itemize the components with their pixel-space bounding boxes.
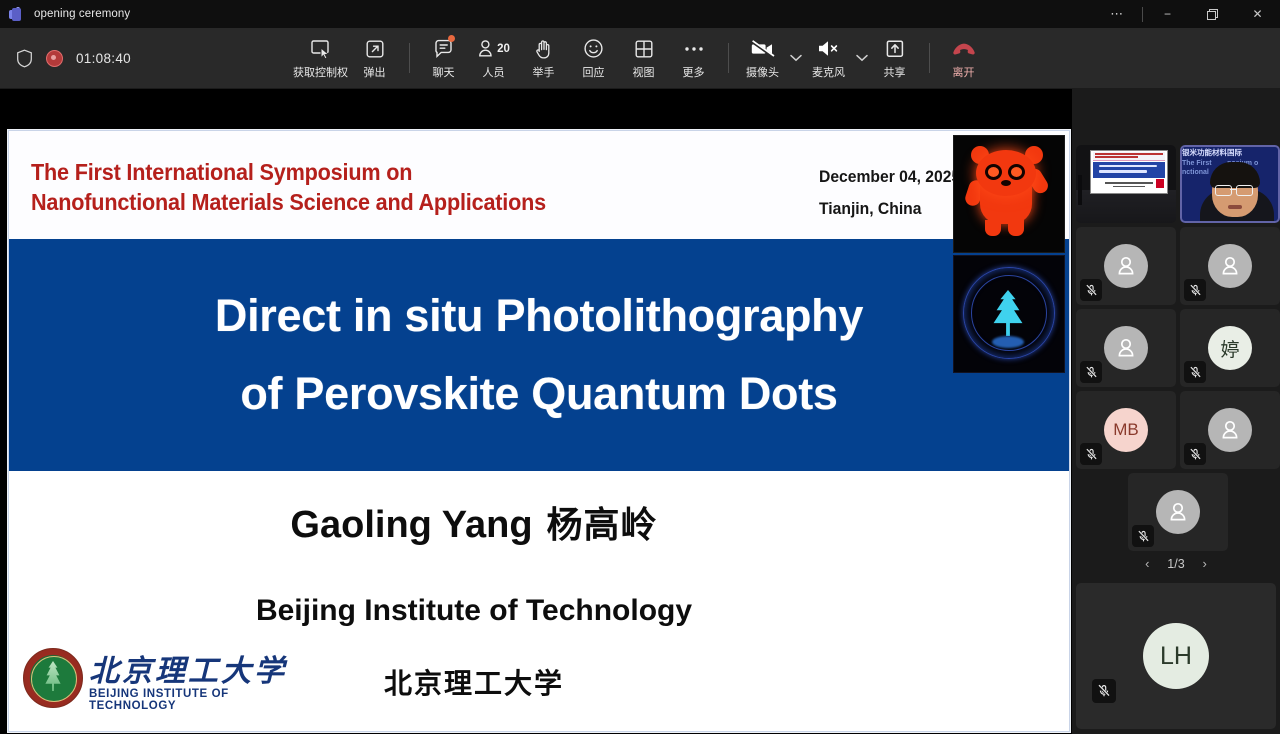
raise-hand-button[interactable]: 举手 bbox=[519, 30, 569, 86]
participant-tile-3[interactable] bbox=[1076, 227, 1176, 305]
avatar: LH bbox=[1143, 623, 1209, 689]
participant-tile-7[interactable]: MB bbox=[1076, 391, 1176, 469]
meeting-toolbar: 01:08:40 获取控制权 弹出 bbox=[0, 28, 1280, 89]
symposium-title: The First International Symposium on Nan… bbox=[31, 157, 689, 217]
people-count: 20 bbox=[497, 43, 510, 55]
slide-location: Tianjin, China bbox=[819, 193, 960, 225]
generic-person-icon bbox=[1208, 244, 1252, 288]
avatar: MB bbox=[1104, 408, 1148, 452]
more-options-button[interactable]: ⋯ bbox=[1095, 0, 1140, 28]
reactions-icon bbox=[583, 37, 604, 61]
window-controls: ⋯ − ✕ bbox=[1095, 0, 1280, 28]
view-button[interactable]: 视图 bbox=[619, 30, 669, 86]
participant-tile-speaker[interactable]: 银米功能材料国际 The First posium onctional and … bbox=[1180, 145, 1280, 223]
toolbar-divider-3 bbox=[929, 43, 930, 73]
people-label: 人员 bbox=[483, 64, 505, 80]
share-button[interactable]: 共享 bbox=[870, 30, 920, 86]
camera-label: 摄像头 bbox=[746, 64, 779, 80]
slide-meta: December 04, 2025 Tianjin, China bbox=[819, 161, 960, 225]
symposium-title-line1: The First International Symposium on bbox=[31, 157, 689, 187]
raise-hand-icon bbox=[534, 37, 553, 61]
view-grid-icon bbox=[634, 37, 654, 61]
microphone-button[interactable]: 麦克风 bbox=[804, 30, 854, 86]
pop-out-icon bbox=[365, 37, 385, 61]
toolbar-divider bbox=[409, 43, 410, 73]
active-speaker-highlight bbox=[1180, 145, 1280, 223]
share-label: 共享 bbox=[884, 64, 906, 80]
bit-mascot-photo bbox=[953, 135, 1065, 253]
toolbar-divider-2 bbox=[728, 43, 729, 73]
speaker-name-en: Gaoling Yang bbox=[290, 504, 532, 546]
people-icon: 20 bbox=[477, 37, 510, 61]
take-control-icon bbox=[310, 37, 332, 61]
pager-prev-button[interactable]: ‹ bbox=[1140, 556, 1154, 571]
pop-out-label: 弹出 bbox=[364, 64, 386, 80]
slide-date: December 04, 2025 bbox=[819, 161, 960, 193]
participant-tile-6[interactable]: 婷 bbox=[1180, 309, 1280, 387]
pop-out-button[interactable]: 弹出 bbox=[350, 30, 400, 86]
participant-tile-5[interactable] bbox=[1076, 309, 1176, 387]
titlebar-divider bbox=[1142, 7, 1143, 22]
leave-label: 离开 bbox=[953, 64, 975, 80]
bit-logo: 北京理工大学 BEIJING INSTITUTE OF TECHNOLOGY bbox=[23, 648, 295, 710]
teams-icon bbox=[9, 7, 24, 22]
shared-slide: The First International Symposium on Nan… bbox=[8, 130, 1070, 732]
participant-tile-8[interactable] bbox=[1180, 391, 1280, 469]
mic-muted-icon bbox=[1184, 361, 1206, 383]
participant-tile-lh[interactable]: LH bbox=[1076, 583, 1276, 729]
pager-next-button[interactable]: › bbox=[1198, 556, 1212, 571]
pager-label: 1/3 bbox=[1167, 557, 1184, 571]
leave-button[interactable]: 离开 bbox=[939, 30, 989, 86]
participant-rail: 银米功能材料国际 The First posium onctional and … bbox=[1072, 89, 1280, 734]
avatar-initials: MB bbox=[1113, 420, 1139, 440]
speaker-name: Gaoling Yang杨高岭 bbox=[9, 496, 939, 548]
view-label: 视图 bbox=[633, 64, 655, 80]
shared-content-stage[interactable]: The First International Symposium on Nan… bbox=[0, 89, 1072, 734]
participant-tile-presentation-room[interactable] bbox=[1076, 145, 1176, 223]
take-control-button[interactable]: 获取控制权 bbox=[292, 30, 350, 86]
close-button[interactable]: ✕ bbox=[1235, 0, 1280, 28]
generic-person-icon bbox=[1208, 408, 1252, 452]
mic-muted-icon bbox=[1080, 361, 1102, 383]
bit-seal-photo bbox=[953, 255, 1065, 373]
mic-off-icon bbox=[817, 37, 841, 61]
microphone-chevron-down-icon[interactable] bbox=[854, 30, 870, 86]
participant-tile-4[interactable] bbox=[1180, 227, 1280, 305]
camera-chevron-down-icon[interactable] bbox=[788, 30, 804, 86]
avatar: 婷 bbox=[1208, 326, 1252, 370]
camera-off-icon bbox=[751, 37, 775, 61]
participant-pager: ‹ 1/3 › bbox=[1072, 556, 1280, 571]
speaker-name-cn: 杨高岭 bbox=[547, 505, 658, 546]
more-label: 更多 bbox=[683, 64, 705, 80]
generic-person-icon bbox=[1104, 244, 1148, 288]
bit-logo-en: BEIJING INSTITUTE OF TECHNOLOGY bbox=[89, 688, 295, 712]
mic-muted-icon bbox=[1132, 525, 1154, 547]
avatar-initials: 婷 bbox=[1220, 335, 1239, 362]
toolbar-center: 获取控制权 弹出 bbox=[0, 28, 1280, 88]
raise-hand-label: 举手 bbox=[533, 64, 555, 80]
reactions-label: 回应 bbox=[583, 64, 605, 80]
chat-label: 聊天 bbox=[433, 64, 455, 80]
mic-muted-icon bbox=[1092, 679, 1116, 703]
take-control-label: 获取控制权 bbox=[293, 64, 348, 80]
mic-muted-icon bbox=[1080, 443, 1102, 465]
people-button[interactable]: 20 人员 bbox=[469, 30, 519, 86]
mic-muted-icon bbox=[1184, 443, 1206, 465]
chat-icon bbox=[433, 37, 454, 61]
mic-muted-icon bbox=[1184, 279, 1206, 301]
share-up-icon bbox=[884, 37, 906, 61]
speaker-camera: 银米功能材料国际 The First posium onctional and … bbox=[1180, 145, 1280, 223]
window-title-bar: opening ceremony ⋯ − ✕ bbox=[0, 0, 1280, 28]
mic-muted-icon bbox=[1080, 279, 1102, 301]
presentation-room-camera bbox=[1076, 145, 1176, 223]
minimize-button[interactable]: − bbox=[1145, 0, 1190, 28]
affiliation-en: Beijing Institute of Technology bbox=[9, 594, 939, 628]
participant-tile-9[interactable] bbox=[1128, 473, 1228, 551]
chat-button[interactable]: 聊天 bbox=[419, 30, 469, 86]
slide-header: The First International Symposium on Nan… bbox=[9, 131, 1069, 239]
more-dots-icon bbox=[683, 37, 705, 61]
symposium-title-line2: Nanofunctional Materials Science and App… bbox=[31, 187, 689, 217]
talk-title-line2: of Perovskite Quantum Dots bbox=[240, 355, 837, 433]
generic-person-icon bbox=[1156, 490, 1200, 534]
bit-logo-cn: 北京理工大学 bbox=[89, 646, 287, 690]
more-button[interactable]: 更多 bbox=[669, 30, 719, 86]
camera-button[interactable]: 摄像头 bbox=[738, 30, 788, 86]
talk-title-banner: Direct in situ Photolithography of Perov… bbox=[9, 239, 1069, 471]
microphone-label: 麦克风 bbox=[812, 64, 845, 80]
reactions-button[interactable]: 回应 bbox=[569, 30, 619, 86]
hangup-icon bbox=[951, 37, 977, 61]
restore-icon bbox=[1207, 9, 1218, 20]
bit-seal-icon bbox=[23, 648, 83, 708]
talk-title-line1: Direct in situ Photolithography bbox=[215, 277, 863, 355]
restore-button[interactable] bbox=[1190, 0, 1235, 28]
avatar-initials: LH bbox=[1160, 642, 1192, 671]
window-title: opening ceremony bbox=[34, 8, 130, 20]
generic-person-icon bbox=[1104, 326, 1148, 370]
chat-unread-badge bbox=[448, 35, 455, 42]
